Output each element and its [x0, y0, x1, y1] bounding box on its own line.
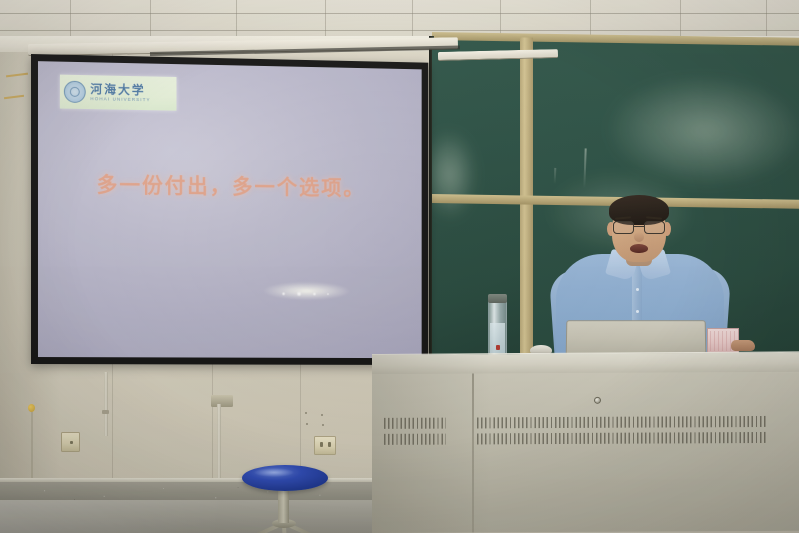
eyeglass-bridge: [634, 226, 644, 227]
screen-glare-dots: [278, 291, 334, 298]
podium-cabinet: [372, 372, 799, 533]
stool-seat-highlight: [254, 468, 294, 477]
wall-conduit-pipe: [217, 404, 221, 486]
lock-icon: [594, 397, 601, 404]
lecturer-nose: [634, 232, 644, 242]
lecturer-mouth: [630, 244, 648, 253]
water-bottle-cap: [488, 294, 507, 303]
slide-university-logo: 河海大学 HOHAI UNIVERSITY: [60, 75, 177, 111]
wall-conduit-pipe: [104, 372, 108, 436]
stool-post: [278, 487, 289, 523]
vent-grille-icon: [477, 432, 767, 445]
podium-door-seam: [472, 373, 474, 532]
slide-headline: 多一份付出，多一个选项。: [38, 168, 422, 203]
floor-sheen: [0, 500, 372, 533]
water-bottle-label: [496, 345, 500, 350]
projection-screen-surface: 河海大学 HOHAI UNIVERSITY 多一份付出，多一个选项。: [38, 61, 422, 358]
university-seal-icon: [64, 81, 86, 103]
vent-grille-icon: [384, 434, 446, 445]
wall-power-outlet: [314, 436, 336, 455]
logo-english-name: HOHAI UNIVERSITY: [90, 97, 150, 103]
conduit-clip: [102, 410, 109, 414]
eyeglass-lens-left: [613, 221, 634, 234]
wall-mount-bracket: [211, 395, 233, 407]
wall-power-outlet: [61, 432, 80, 452]
lecturer-hand: [731, 340, 755, 351]
eyeglass-lens-right: [644, 221, 665, 234]
wall-knob-icon: [28, 404, 35, 412]
vent-grille-icon: [384, 418, 446, 429]
projection-screen: 河海大学 HOHAI UNIVERSITY 多一份付出，多一个选项。: [31, 54, 428, 365]
knob-wire: [31, 412, 33, 480]
logo-chinese-name: 河海大学: [90, 83, 150, 96]
lecture-hall-photo: 河海大学 HOHAI UNIVERSITY 多一份付出，多一个选项。: [0, 0, 799, 533]
vent-grille-icon: [477, 416, 767, 429]
